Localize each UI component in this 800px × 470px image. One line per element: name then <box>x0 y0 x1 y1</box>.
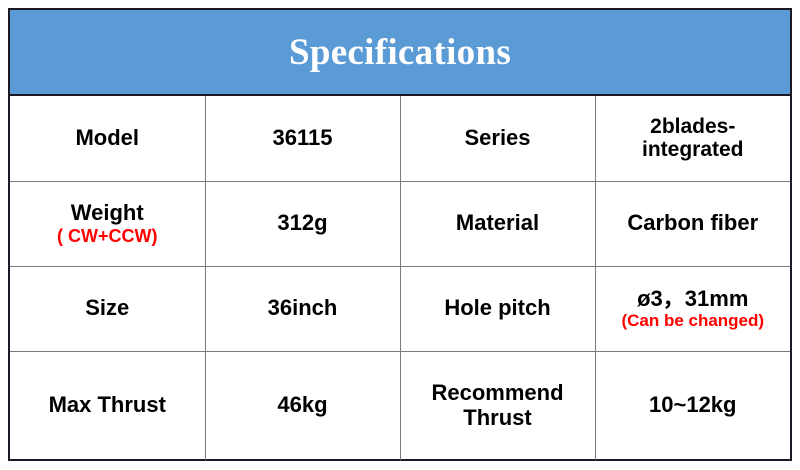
row-recommend-thrust-label: Recommend Thrust <box>400 351 595 460</box>
row-material-label: Material <box>400 181 595 266</box>
cell-text: Hole pitch <box>405 296 591 321</box>
table-title-cell: Specifications <box>10 10 790 95</box>
cell-text: 36115 <box>210 126 396 151</box>
row-series-value: 2blades-integrated <box>595 95 790 181</box>
cell-text: Size <box>14 296 201 321</box>
cell-text: 36inch <box>210 296 396 321</box>
cell-note-changeable: (Can be changed) <box>600 311 787 330</box>
cell-text: Material <box>405 211 591 236</box>
row-model-label: Model <box>10 95 205 181</box>
row-recommend-thrust-value: 10~12kg <box>595 351 790 460</box>
row-weight-label: Weight ( CW+CCW) <box>10 181 205 266</box>
cell-text: 312g <box>210 211 396 236</box>
row-model-value: 36115 <box>205 95 400 181</box>
cell-text: 46kg <box>210 393 396 418</box>
cell-text: Weight <box>14 201 201 226</box>
row-hole-pitch-value: ø3，31mm (Can be changed) <box>595 266 790 351</box>
row-max-thrust-value: 46kg <box>205 351 400 460</box>
cell-note-rotation: ( CW+CCW) <box>14 226 201 246</box>
table-row: Max Thrust 46kg Recommend Thrust 10~12kg <box>10 351 790 460</box>
cell-text: Model <box>14 126 201 151</box>
cell-text: Series <box>405 126 591 151</box>
cell-text: 2blades-integrated <box>600 115 787 162</box>
cell-text: 10~12kg <box>600 393 787 418</box>
row-size-label: Size <box>10 266 205 351</box>
table-row: Size 36inch Hole pitch ø3，31mm (Can be c… <box>10 266 790 351</box>
specifications-table-container: Specifications Model 36115 Series 2blade… <box>8 8 792 461</box>
row-hole-pitch-label: Hole pitch <box>400 266 595 351</box>
cell-text: ø3，31mm <box>600 287 787 312</box>
row-max-thrust-label: Max Thrust <box>10 351 205 460</box>
table-row: Model 36115 Series 2blades-integrated <box>10 95 790 181</box>
row-series-label: Series <box>400 95 595 181</box>
row-weight-value: 312g <box>205 181 400 266</box>
page-title: Specifications <box>289 32 511 73</box>
row-size-value: 36inch <box>205 266 400 351</box>
table-row: Weight ( CW+CCW) 312g Material Carbon fi… <box>10 181 790 266</box>
cell-text: Carbon fiber <box>600 211 787 236</box>
specifications-table: Specifications Model 36115 Series 2blade… <box>10 10 790 460</box>
row-material-value: Carbon fiber <box>595 181 790 266</box>
table-title-row: Specifications <box>10 10 790 95</box>
cell-text: Recommend Thrust <box>405 381 591 430</box>
cell-text: Max Thrust <box>14 393 201 418</box>
